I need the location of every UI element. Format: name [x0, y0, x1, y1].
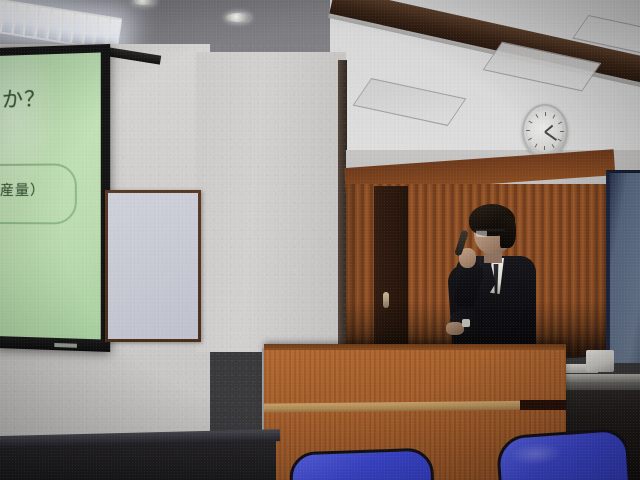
slide-title-text: るか？: [0, 83, 46, 115]
ceiling-spotlight: [226, 13, 250, 22]
chair-highlight: [509, 441, 562, 467]
wall-column: [196, 52, 346, 352]
wall-clock: [522, 104, 568, 158]
equipment-shelf: [560, 374, 640, 382]
clock-tick: [557, 139, 561, 142]
blue-wall-board: [606, 170, 640, 363]
clock-tick: [529, 121, 533, 124]
clock-tick: [544, 146, 545, 150]
clock-tick: [536, 114, 539, 118]
photo-scene: るか？ る 、生産量）: [0, 0, 640, 480]
blue-chair[interactable]: [289, 448, 435, 480]
clock-tick: [528, 138, 532, 141]
clock-tick: [560, 131, 564, 132]
lectern-stripe-shadow: [520, 400, 566, 410]
projection-screen-surface: るか？ る 、生産量）: [0, 52, 101, 339]
presenter: [438, 206, 542, 354]
clock-tick: [526, 130, 530, 131]
wristwatch: [462, 319, 470, 327]
clock-face: [528, 110, 562, 152]
lectern-top-edge: [264, 344, 566, 350]
screen-bar-marking: [54, 343, 77, 348]
projection-screen: るか？ る 、生産量）: [0, 44, 110, 352]
clock-minute-hand: [544, 131, 557, 141]
clock-tick: [545, 112, 546, 116]
clock-tick: [535, 143, 538, 147]
whiteboard: [105, 190, 201, 342]
eyeglasses-icon: [474, 229, 505, 237]
clock-tick: [558, 122, 562, 125]
whiteboard-surface: [108, 193, 198, 339]
white-equipment-box: [586, 350, 614, 372]
clock-tick: [552, 144, 555, 148]
slide-callout-text: 、生産量）: [0, 180, 45, 200]
clock-tick: [553, 115, 556, 119]
